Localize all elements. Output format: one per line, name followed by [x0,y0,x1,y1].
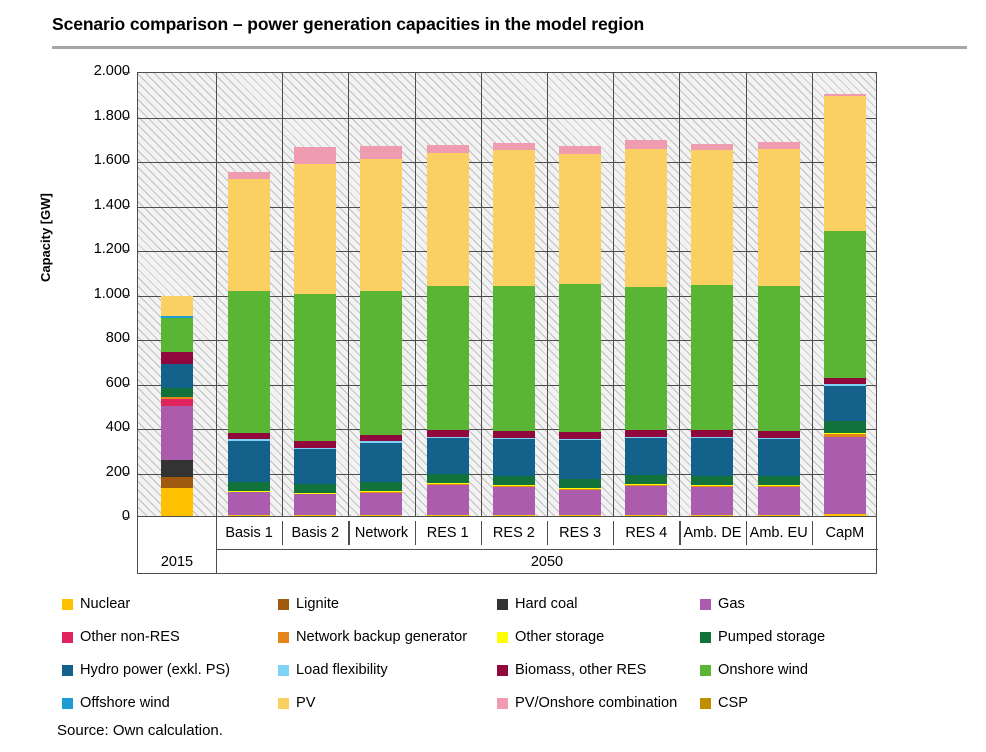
x-axis-category-label: RES 3 [547,517,613,549]
bar-segment[interactable] [824,514,866,516]
bar-segment[interactable] [824,386,866,422]
bar-segment[interactable] [758,286,800,432]
bar-segment[interactable] [493,286,535,432]
bar-segment[interactable] [228,492,270,515]
y-axis-tick-label: 1.000 [66,287,130,301]
bar-segment[interactable] [559,515,601,516]
legend-label: Hydro power (exkl. PS) [80,662,230,678]
x-axis-scenario-row: Basis 1Basis 2NetworkRES 1RES 2RES 3RES … [138,517,876,549]
bar-segment[interactable] [427,484,469,485]
bar-segment[interactable] [228,172,270,179]
bar-segment[interactable] [493,438,535,439]
bar-segment[interactable] [824,434,866,437]
bar-segment[interactable] [493,439,535,476]
stacked-bar[interactable] [758,73,800,516]
x-axis-category-label: RES 2 [481,517,547,549]
bar-segment[interactable] [161,397,193,399]
title-divider [52,46,967,49]
legend-label: Other non-RES [80,629,180,645]
legend-item[interactable]: Other non-RES [62,629,180,645]
stacked-bar[interactable] [360,73,402,516]
x-axis-category-label: RES 4 [613,517,679,549]
bar-segment[interactable] [691,144,733,150]
bar-segment[interactable] [161,318,193,352]
y-axis-tick-mark [124,161,130,162]
bar-segment[interactable] [427,515,469,516]
y-axis-tick-mark [124,72,130,73]
legend-swatch-icon [278,599,289,610]
legend-swatch-icon [497,632,508,643]
bar-segment[interactable] [691,150,733,285]
bar-segment[interactable] [758,476,800,485]
bar-segment[interactable] [228,433,270,440]
bar-segment[interactable] [691,430,733,437]
bar-segment[interactable] [427,286,469,431]
y-axis-tick-mark [124,428,130,429]
y-axis-tick-label: 1.600 [66,153,130,167]
legend-item[interactable]: PV [278,695,315,711]
bar-segment[interactable] [824,437,866,514]
legend-item[interactable]: Onshore wind [700,662,808,678]
stacked-bar[interactable] [625,73,667,516]
legend-label: Hard coal [515,596,577,612]
bar-segment[interactable] [691,487,733,515]
bar-segment[interactable] [758,486,800,487]
x-axis-separator [679,521,680,545]
y-axis-tick-mark [124,117,130,118]
bar-group [679,73,745,516]
bar-segment[interactable] [427,437,469,438]
bar-segment[interactable] [294,441,336,448]
bar-group [415,73,481,516]
bar-group [746,73,812,516]
y-axis: Capacity [GW] 02004006008001.0001.2001.4… [58,72,130,517]
y-axis-label: Capacity [GW] [38,193,53,282]
bar-segment[interactable] [625,485,667,486]
bar-segment[interactable] [758,149,800,286]
y-axis-tick-mark [124,517,130,518]
bar-segment[interactable] [360,159,402,292]
bar-segment[interactable] [294,147,336,165]
bar-group [282,73,348,516]
bar-segment[interactable] [161,364,193,387]
bar-segment[interactable] [360,443,402,482]
bar-segment[interactable] [228,439,270,440]
bar-segment[interactable] [228,179,270,291]
bar-group [812,73,878,516]
bar-segment[interactable] [228,482,270,491]
legend-label: Other storage [515,629,604,645]
legend-label: Load flexibility [296,662,388,678]
legend-swatch-icon [278,698,289,709]
bar-segment[interactable] [228,491,270,492]
legend-swatch-icon [62,632,73,643]
bar-segment[interactable] [161,460,193,477]
bar-segment[interactable] [360,291,402,435]
x-axis-category-label: RES 1 [415,517,481,549]
bar-segment[interactable] [625,475,667,484]
bar-segment[interactable] [824,384,866,385]
stacked-bar[interactable] [161,73,193,516]
y-axis-tick-mark [124,250,130,251]
bar-segment[interactable] [360,435,402,442]
bar-segment[interactable] [824,378,866,385]
legend-label: Lignite [296,596,339,612]
bar-segment[interactable] [427,483,469,484]
bar-segment[interactable] [360,441,402,442]
bar-segment[interactable] [360,146,402,159]
y-axis-tick-mark [124,339,130,340]
legend-item[interactable]: CSP [700,695,748,711]
bar-segment[interactable] [228,291,270,432]
bar-segment[interactable] [493,431,535,438]
bar-segment[interactable] [559,440,601,479]
x-axis-category-label: Amb. DE [679,517,745,549]
bar-segment[interactable] [625,149,667,287]
legend-item[interactable]: Lignite [278,596,339,612]
x-axis-separator [348,521,349,545]
y-axis-tick-label: 2.000 [66,64,130,78]
bar-segment[interactable] [294,484,336,493]
bar-segment[interactable] [493,150,535,286]
y-axis-tick-label: 0 [66,509,130,523]
bar-segment[interactable] [559,439,601,440]
x-axis-separator [746,521,747,545]
bar-segment[interactable] [559,284,601,432]
bar-segment[interactable] [427,474,469,483]
bar-group [547,73,613,516]
bar-segment[interactable] [559,432,601,439]
y-axis-tick-label: 800 [66,331,130,345]
bar-segment[interactable] [493,515,535,516]
bar-segment[interactable] [625,430,667,437]
x-axis-group-row: 20152050 [138,549,876,574]
legend-item[interactable]: Network backup generator [278,629,467,645]
legend-item[interactable]: Load flexibility [278,662,388,678]
bar-segment[interactable] [625,486,667,515]
bar-segment[interactable] [559,479,601,488]
bar-segment[interactable] [758,487,800,515]
x-axis-separator [415,521,416,545]
x-axis-row-divider [216,549,878,550]
bar-segment[interactable] [427,145,469,153]
legend-swatch-icon [62,698,73,709]
bar-segment[interactable] [360,491,402,492]
bar-segment[interactable] [824,96,866,231]
bar-segment[interactable] [493,143,535,150]
bar-group [138,73,216,516]
y-axis-tick-mark [124,384,130,385]
stacked-bar[interactable] [824,73,866,516]
y-axis-tick-label: 200 [66,465,130,479]
bars-container [138,73,876,516]
y-axis-tick-label: 600 [66,376,130,390]
page-title: Scenario comparison – power generation c… [52,14,952,35]
y-axis-tick-mark [124,206,130,207]
bar-segment[interactable] [625,438,667,475]
bar-segment[interactable] [360,515,402,516]
x-axis-category-label: Basis 1 [216,517,282,549]
legend-label: Pumped storage [718,629,825,645]
bar-segment[interactable] [493,486,535,487]
legend-item[interactable]: Other storage [497,629,604,645]
legend-swatch-icon [497,665,508,676]
legend-swatch-icon [278,632,289,643]
x-axis-category-label: CapM [812,517,878,549]
legend-item[interactable]: Biomass, other RES [497,662,646,678]
bar-group [481,73,547,516]
bar-segment[interactable] [360,492,402,493]
x-axis-category-label: Basis 2 [282,517,348,549]
bar-segment[interactable] [758,515,800,516]
bar-group [613,73,679,516]
legend-label: PV [296,695,315,711]
bar-segment[interactable] [758,439,800,476]
y-axis-tick-label: 1.200 [66,242,130,256]
source-note: Source: Own calculation. [57,722,223,739]
legend-swatch-icon [62,665,73,676]
legend-swatch-icon [700,599,711,610]
bar-segment[interactable] [559,490,601,514]
bar-segment[interactable] [625,515,667,516]
bar-segment[interactable] [294,493,336,494]
x-axis-separator [282,521,283,545]
legend-label: Network backup generator [296,629,467,645]
bar-segment[interactable] [691,486,733,487]
legend-item[interactable]: Hydro power (exkl. PS) [62,662,230,678]
x-axis-separator [613,521,614,545]
bar-segment[interactable] [625,484,667,485]
legend-swatch-icon [700,632,711,643]
bar-segment[interactable] [360,493,402,515]
bar-segment[interactable] [294,494,336,515]
legend-swatch-icon [700,698,711,709]
x-axis-separator [481,521,482,545]
bar-segment[interactable] [161,388,193,397]
legend-label: Nuclear [80,596,130,612]
legend-label: CSP [718,695,748,711]
y-axis-tick-label: 400 [66,420,130,434]
legend-swatch-icon [62,599,73,610]
bar-segment[interactable] [691,438,733,476]
bar-segment[interactable] [691,476,733,485]
bar-segment[interactable] [161,477,193,488]
bar-segment[interactable] [691,485,733,486]
legend-item[interactable]: Nuclear [62,596,130,612]
bar-segment[interactable] [427,153,469,285]
bar-segment[interactable] [559,154,601,284]
bar-segment[interactable] [824,433,866,434]
legend-label: PV/Onshore combination [515,695,677,711]
bar-segment[interactable] [691,285,733,431]
bar-segment[interactable] [758,431,800,438]
bar-group [216,73,282,516]
y-axis-tick-mark [124,473,130,474]
x-axis-group-label-2050: 2050 [216,549,878,574]
stacked-bar[interactable] [228,73,270,516]
stacked-bar[interactable] [493,73,535,516]
legend-swatch-icon [497,599,508,610]
bar-segment[interactable] [228,441,270,482]
legend-swatch-icon [497,698,508,709]
bar-segment[interactable] [758,438,800,439]
bar-segment[interactable] [493,487,535,515]
bar-segment[interactable] [161,316,193,318]
bar-segment[interactable] [294,449,336,483]
bar-segment[interactable] [360,482,402,491]
bar-segment[interactable] [625,140,667,149]
legend-item[interactable]: Hard coal [497,596,577,612]
bar-segment[interactable] [294,448,336,449]
y-axis-tick-mark [124,295,130,296]
bar-segment[interactable] [294,515,336,516]
stacked-bar[interactable] [559,73,601,516]
bar-segment[interactable] [824,421,866,433]
bar-segment[interactable] [161,488,193,516]
x-axis-separator [547,521,548,545]
bar-segment[interactable] [758,485,800,486]
bar-segment[interactable] [228,515,270,516]
bar-segment[interactable] [161,406,193,461]
bar-group [348,73,414,516]
chart-page: Scenario comparison – power generation c… [0,0,986,752]
legend-swatch-icon [700,665,711,676]
x-axis-group-label-2015: 2015 [138,549,216,574]
bar-segment[interactable] [824,231,866,378]
page-title-wrap: Scenario comparison – power generation c… [52,14,952,35]
bar-segment[interactable] [161,352,193,364]
bar-segment[interactable] [559,488,601,489]
bar-segment[interactable] [161,399,193,406]
legend-item[interactable]: Gas [700,596,745,612]
bar-segment[interactable] [758,142,800,149]
bar-segment[interactable] [294,294,336,442]
x-axis: Basis 1Basis 2NetworkRES 1RES 2RES 3RES … [137,517,877,574]
stacked-bar[interactable] [691,73,733,516]
legend-label: Gas [718,596,745,612]
bar-segment[interactable] [493,485,535,486]
bar-segment[interactable] [161,296,193,316]
y-axis-tick-label: 1.400 [66,198,130,212]
legend-item[interactable]: PV/Onshore combination [497,695,677,711]
plot-area [137,72,877,517]
x-axis-category-label: Amb. EU [746,517,812,549]
bar-segment[interactable] [294,164,336,293]
x-axis-separator [812,521,813,545]
bar-segment[interactable] [625,287,667,431]
bar-segment[interactable] [493,476,535,485]
bar-segment[interactable] [625,437,667,438]
legend-label: Biomass, other RES [515,662,646,678]
legend-item[interactable]: Offshore wind [62,695,170,711]
legend-item[interactable]: Pumped storage [700,629,825,645]
bar-segment[interactable] [427,485,469,515]
legend-swatch-icon [278,665,289,676]
legend-label: Offshore wind [80,695,170,711]
bar-segment[interactable] [559,489,601,491]
bar-segment[interactable] [691,515,733,516]
legend-label: Onshore wind [718,662,808,678]
x-axis-group-separator [216,517,217,574]
stacked-bar[interactable] [427,73,469,516]
bar-segment[interactable] [559,146,601,153]
bar-segment[interactable] [427,430,469,437]
y-axis-tick-label: 1.800 [66,109,130,123]
bar-segment[interactable] [427,438,469,474]
bar-segment[interactable] [691,437,733,438]
x-axis-category-label: Network [348,517,414,549]
stacked-bar[interactable] [294,73,336,516]
bar-segment[interactable] [824,94,866,96]
